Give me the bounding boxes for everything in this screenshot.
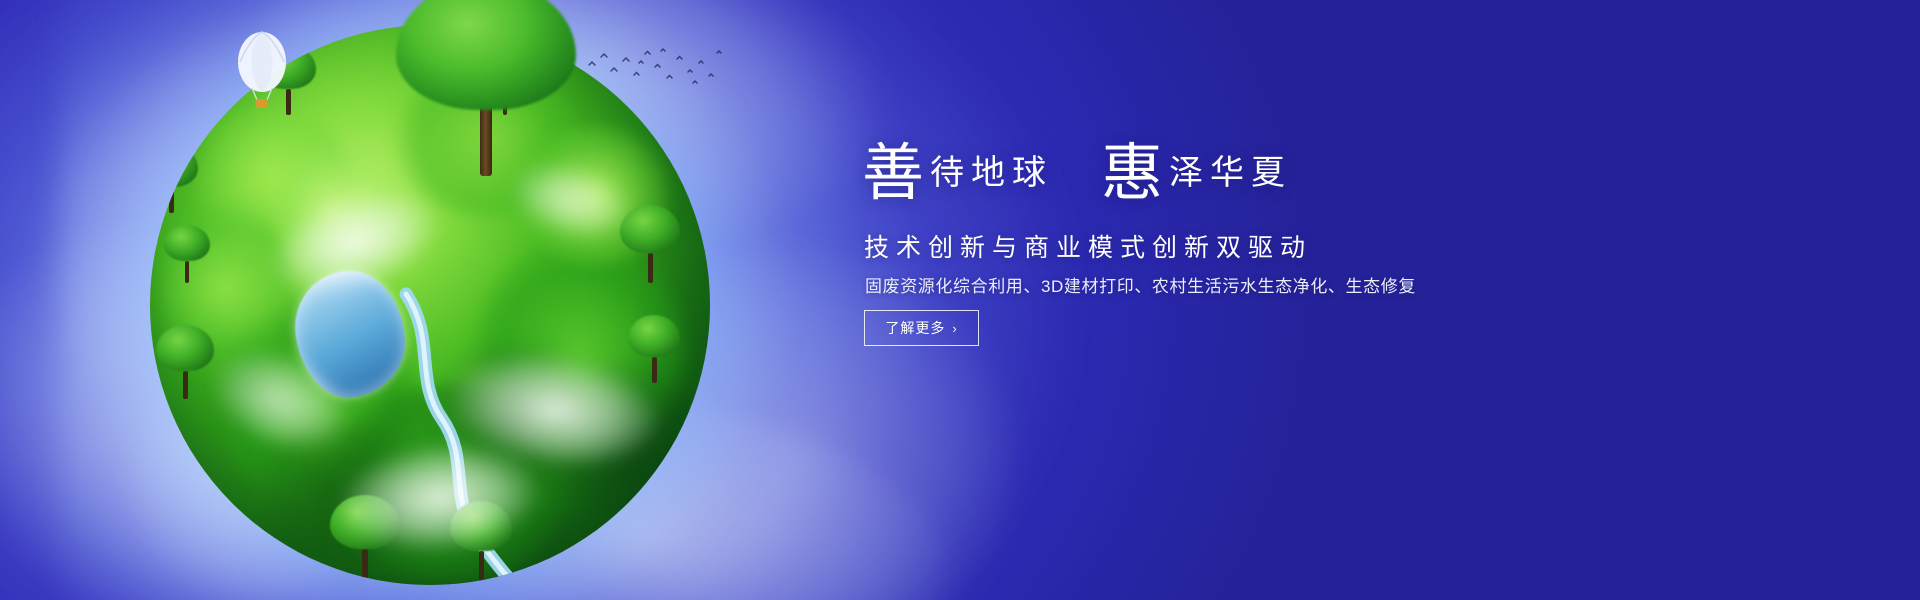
tree-icon [260,45,316,115]
learn-more-label: 了解更多 [885,318,945,338]
cloud-swirl [228,0,912,288]
tree-icon [150,145,198,213]
bird-flock-icon [585,45,725,90]
tiny-planet-illustration [150,25,710,585]
headline-part1-small: 待地球 [930,156,1053,190]
river-icon [396,294,626,585]
tree-icon [450,501,512,581]
terrain-patch [475,238,685,458]
large-tree-icon [396,0,576,170]
tree-icon [480,51,530,115]
lake-icon [287,264,411,404]
cloud-swirl [72,264,469,600]
hot-air-balloon-icon [232,30,292,120]
tree-icon [156,325,214,399]
terrain-patch [161,193,291,383]
tree-icon [620,205,680,283]
mist-patch [198,332,362,468]
headline-part2-small: 泽华夏 [1169,156,1292,190]
tree-icon [164,225,210,283]
canopy-shadow [240,417,430,577]
chevron-right-icon: › [952,321,957,336]
hero-content: 善 待地球 惠 泽华夏 技术创新与商业模式创新双驱动 固废资源化综合利用、3D建… [862,0,1562,600]
learn-more-button[interactable]: 了解更多 › [864,310,979,346]
sky-glow-inner [60,0,840,600]
terrain-patch [217,294,417,504]
canopy-shadow [542,361,710,531]
hero-banner: 善 待地球 惠 泽华夏 技术创新与商业模式创新双驱动 固废资源化综合利用、3D建… [0,0,1920,600]
headline-part1-large: 善 [862,142,926,204]
canopy-shadow [430,339,600,489]
terrain-patch [396,59,576,219]
page-title: 善 待地球 惠 泽华夏 [862,138,1288,200]
cloud-swirl [0,0,610,512]
mist-patch [259,171,450,314]
terrain-patch [273,148,393,268]
planet-sphere [150,25,710,585]
mist-patch [335,435,545,560]
terrain-patch [329,383,569,583]
headline-part2-large: 惠 [1101,142,1165,204]
mist-patch [503,152,636,249]
hero-subtitle: 技术创新与商业模式创新双驱动 [864,228,1312,264]
mist-patch [443,341,666,479]
hero-description: 固废资源化综合利用、3D建材打印、农村生活污水生态净化、生态修复 [865,272,1416,297]
terrain-patch [195,103,355,253]
tree-icon [330,495,400,581]
tree-icon [628,315,680,383]
cloud-swirl [0,141,523,600]
terrain-patch [520,126,670,266]
